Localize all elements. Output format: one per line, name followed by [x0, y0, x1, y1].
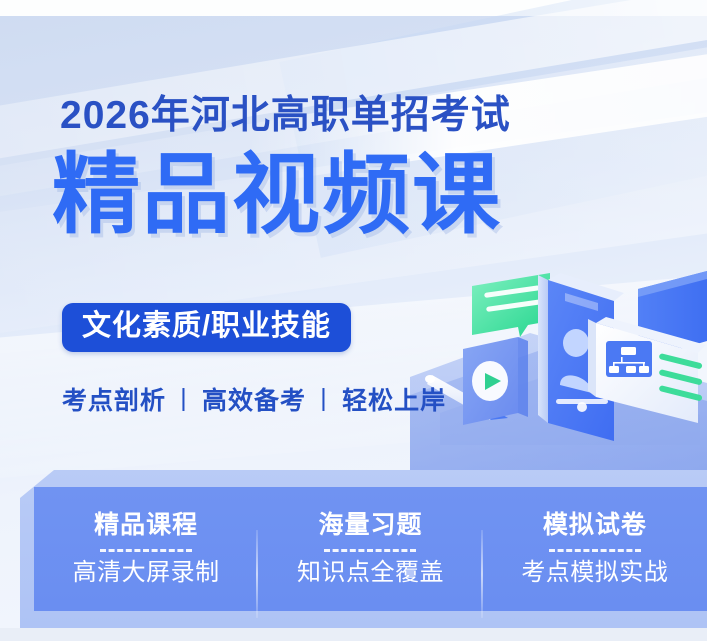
- feature-dashed-divider: [100, 549, 192, 552]
- feature-title: 精品课程: [40, 512, 252, 540]
- feature-subtitle: 知识点全覆盖: [264, 560, 476, 586]
- tagline-separator-1: 丨: [166, 387, 202, 415]
- feature-item-1: 海量习题 知识点全覆盖: [258, 512, 482, 586]
- subject-badge: 文化素质/职业技能: [62, 303, 351, 352]
- feature-item-0: 精品课程 高清大屏录制: [34, 512, 258, 586]
- promo-banner: 2026年河北高职单招考试 精品视频课 文化素质/职业技能 考点剖析丨高效备考丨…: [0, 0, 707, 641]
- tagline-part-2: 高效备考: [202, 387, 306, 415]
- feature-dashed-divider: [549, 549, 641, 552]
- feature-bar: 精品课程 高清大屏录制 海量习题 知识点全覆盖 模拟试卷 考点模拟实战: [34, 487, 707, 611]
- tagline-part-1: 考点剖析: [62, 387, 166, 415]
- feature-item-2: 模拟试卷 考点模拟实战: [483, 512, 707, 586]
- headline-subtitle: 2026年河北高职单招考试: [60, 96, 707, 137]
- feature-subtitle: 考点模拟实战: [489, 560, 701, 586]
- feature-subtitle: 高清大屏录制: [40, 560, 252, 586]
- feature-title: 模拟试卷: [489, 512, 701, 540]
- background-bottom-strip: [0, 628, 707, 641]
- feature-dashed-divider: [324, 549, 416, 552]
- tagline-part-3: 轻松上岸: [342, 387, 446, 415]
- headline-title: 精品视频课: [52, 149, 707, 241]
- tagline: 考点剖析丨高效备考丨轻松上岸: [62, 381, 446, 417]
- headline-group: 2026年河北高职单招考试 精品视频课: [0, 96, 707, 241]
- tagline-separator-2: 丨: [306, 387, 342, 415]
- feature-title: 海量习题: [264, 512, 476, 540]
